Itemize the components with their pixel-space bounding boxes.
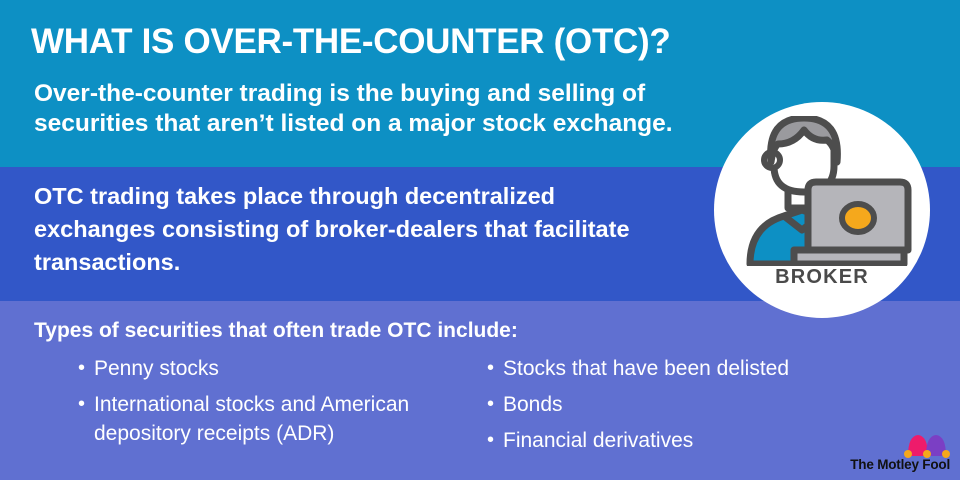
list-item: • Bonds bbox=[479, 390, 899, 419]
bullet-dot-icon: • bbox=[487, 426, 503, 455]
list-item-label: Bonds bbox=[503, 390, 899, 419]
bullet-column-right: • Stocks that have been delisted • Bonds… bbox=[479, 354, 899, 462]
bullet-dot-icon: • bbox=[487, 354, 503, 383]
list-item-label: Penny stocks bbox=[94, 354, 479, 383]
middle-paragraph: OTC trading takes place through decentra… bbox=[34, 180, 674, 279]
broker-at-laptop-icon bbox=[714, 116, 930, 266]
list-item: • Financial derivatives bbox=[479, 426, 899, 455]
bullet-column-left: • Penny stocks • International stocks an… bbox=[34, 354, 479, 462]
list-item: • Penny stocks bbox=[34, 354, 479, 383]
bullet-dot-icon: • bbox=[78, 390, 94, 419]
types-bullet-columns: • Penny stocks • International stocks an… bbox=[34, 354, 924, 462]
motley-fool-logo: The Motley Fool bbox=[846, 432, 950, 474]
types-lead-text: Types of securities that often trade OTC… bbox=[34, 318, 518, 344]
bullet-dot-icon: • bbox=[487, 390, 503, 419]
list-item-label: International stocks and American deposi… bbox=[94, 390, 479, 448]
broker-illustration: BROKER bbox=[714, 102, 930, 318]
bullet-dot-icon: • bbox=[78, 354, 94, 383]
list-item: • Stocks that have been delisted bbox=[479, 354, 899, 383]
list-item: • International stocks and American depo… bbox=[34, 390, 479, 448]
header-paragraph: Over-the-counter trading is the buying a… bbox=[34, 79, 699, 139]
list-item-label: Stocks that have been delisted bbox=[503, 354, 899, 383]
broker-label: BROKER bbox=[714, 266, 930, 289]
infographic-canvas: WHAT IS OVER-THE-COUNTER (OTC)? Over-the… bbox=[0, 0, 960, 480]
page-title: WHAT IS OVER-THE-COUNTER (OTC)? bbox=[31, 22, 731, 62]
jester-hat-icon bbox=[904, 432, 950, 458]
list-item-label: Financial derivatives bbox=[503, 426, 899, 455]
motley-fool-wordmark: The Motley Fool bbox=[846, 457, 950, 472]
